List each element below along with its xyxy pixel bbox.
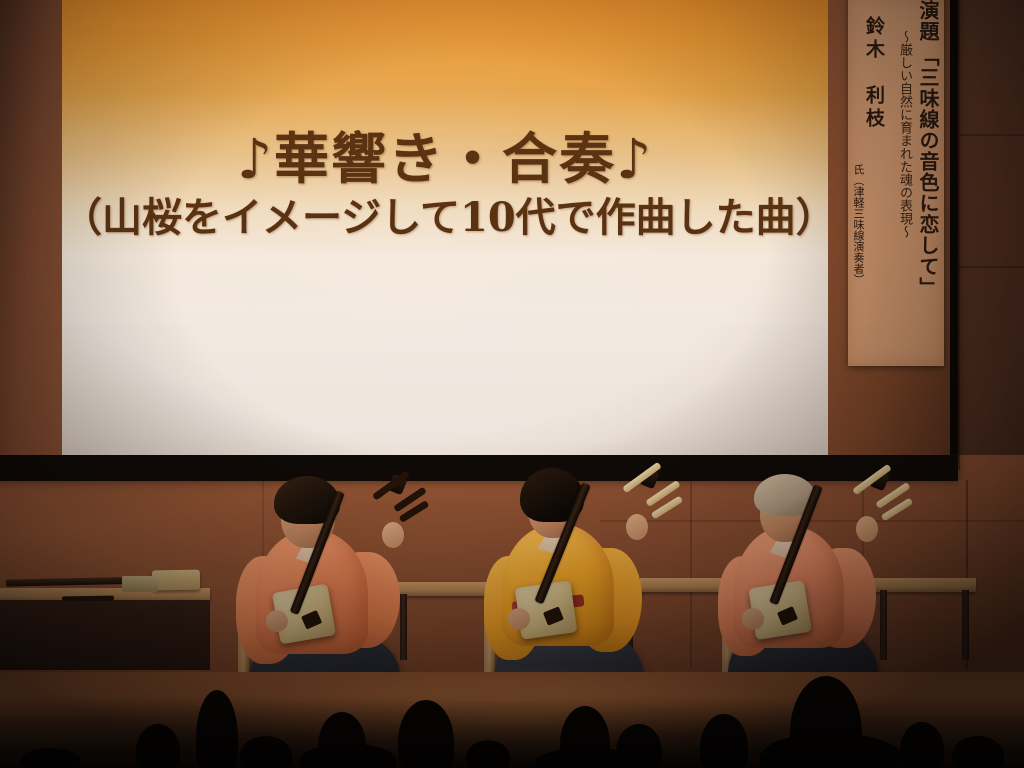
bachi-plectrum	[62, 596, 114, 602]
banner-heading: 演題	[917, 0, 938, 42]
audience-head	[466, 740, 510, 768]
wall-seam	[958, 134, 1024, 136]
audience-shoulders	[760, 734, 902, 768]
wall-seam	[958, 0, 960, 470]
screen-bottom-bar	[0, 455, 958, 481]
spare-shamisen-body	[152, 570, 200, 591]
audience-head	[952, 736, 1004, 768]
performer-hand-strumming	[742, 608, 764, 630]
table-leg	[880, 590, 887, 660]
audience-head	[20, 748, 80, 768]
performer-hand-fretting	[626, 514, 648, 540]
banner-performer-name: 鈴木 利枝	[861, 16, 888, 131]
vertical-banner: 演題 「三味線の音色に恋して」 〜厳しい自然に育まれた魂の表現〜 鈴木 利枝 氏…	[848, 0, 944, 366]
slide-subtitle: （山桜をイメージして10代で作曲した曲）	[62, 194, 828, 242]
wall-seam	[958, 266, 1024, 268]
banner-performer-role: 氏（津軽三味線演奏者）	[850, 164, 866, 285]
performer-hand-fretting	[382, 522, 404, 548]
screen-left-wall	[0, 0, 62, 456]
performer-hand-strumming	[266, 610, 288, 632]
audience-head	[240, 736, 292, 768]
audience-shoulders	[300, 744, 396, 768]
performer-hand-fretting	[856, 516, 878, 542]
shamisen-accessory-box	[122, 576, 158, 592]
wall-seam	[690, 478, 692, 668]
table-leg	[962, 590, 969, 660]
stage-photo: ♪華響き・合奏♪ （山桜をイメージして10代で作曲した曲） 演題 「三味線の音色…	[0, 0, 1024, 768]
performer-hand-strumming	[508, 608, 530, 630]
banner-title: 「三味線の音色に恋して」	[917, 46, 938, 298]
table-leg	[400, 594, 407, 660]
slide-text-block: ♪華響き・合奏♪ （山桜をイメージして10代で作曲した曲）	[62, 128, 828, 242]
wall-seam	[600, 520, 1024, 522]
banner-subtitle: 〜厳しい自然に育まれた魂の表現〜	[895, 30, 914, 238]
slide-title: ♪華響き・合奏♪	[62, 128, 828, 190]
